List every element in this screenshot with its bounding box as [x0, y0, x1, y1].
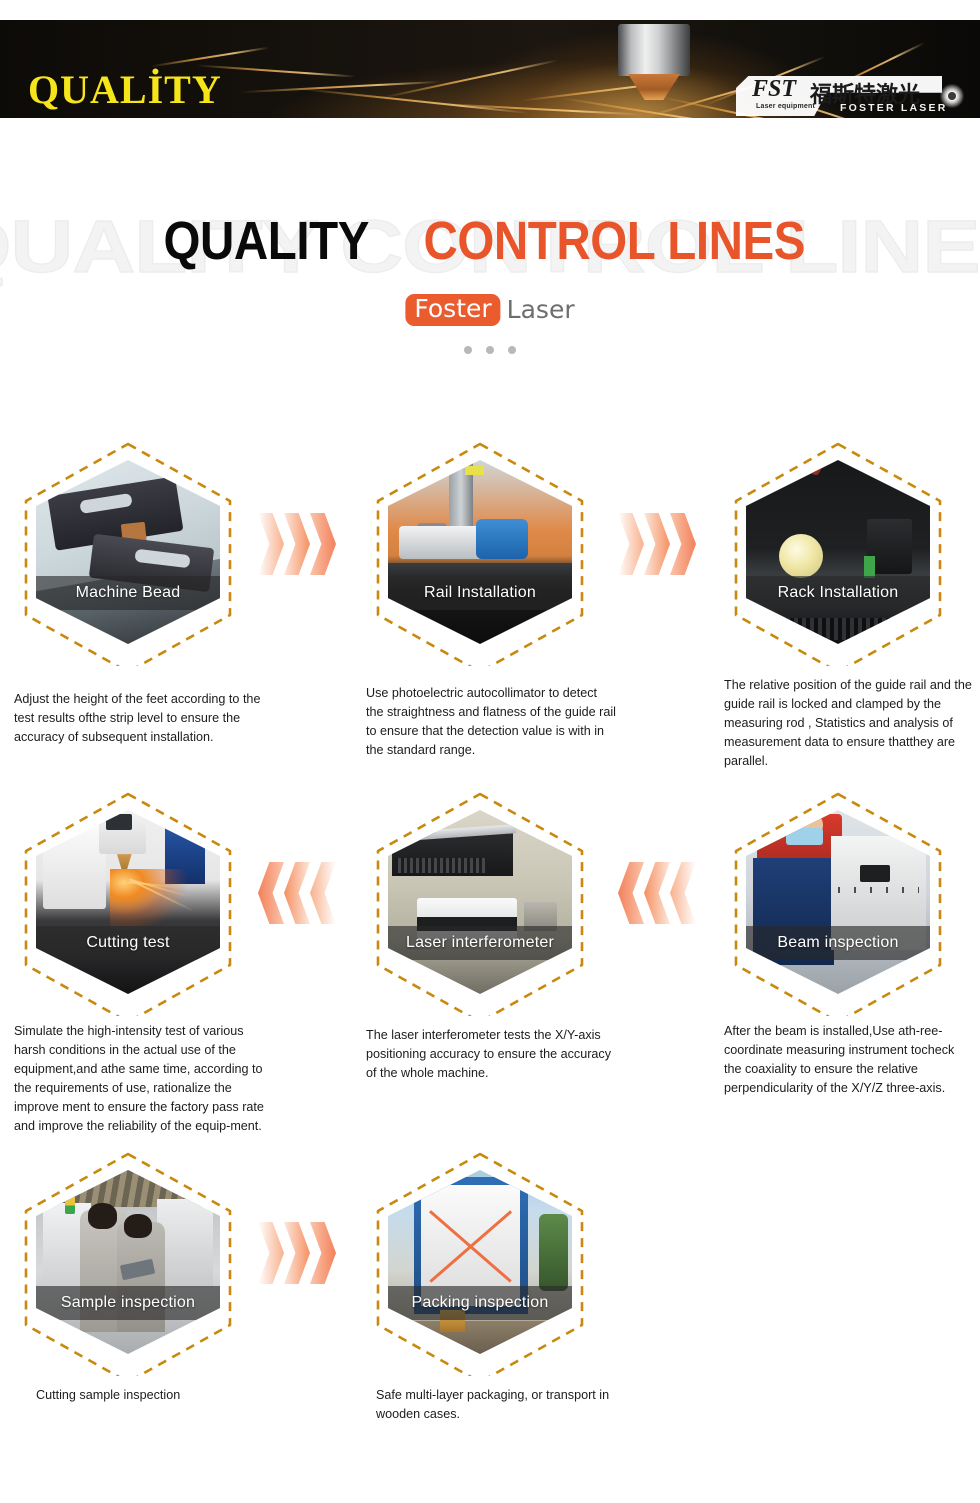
chevron-right-icon — [670, 513, 696, 575]
hex-rail-installation: Rail Installation — [366, 438, 594, 666]
arrow-interferometer-to-cutting — [258, 862, 336, 924]
hex-label: Machine Bead — [36, 576, 220, 610]
chevron-right-icon — [644, 513, 670, 575]
logo-tagline: Laser equipment — [756, 103, 815, 110]
page-title: QUALITYCONTROL LINES — [149, 214, 830, 268]
hex-label: Beam inspection — [746, 926, 930, 960]
laser-burst-icon — [938, 82, 966, 110]
decorative-dots — [464, 346, 516, 354]
logo-english-name: FOSTER LASER — [840, 102, 948, 114]
step-card-rail-installation: Rail Installation Use photoelectric auto… — [366, 438, 594, 666]
chevron-right-icon — [258, 513, 284, 575]
dot-1 — [464, 346, 472, 354]
hex-label: Rack Installation — [746, 576, 930, 610]
step-caption-laser-interferometer: The laser interferometer tests the X/Y-a… — [366, 1026, 616, 1083]
chevron-left-icon — [258, 862, 284, 924]
hex-cutting-test: Cutting test — [14, 788, 242, 1016]
arrow-bead-to-rail — [258, 513, 336, 575]
step-caption-beam-inspection: After the beam is installed,Use ath-ree-… — [724, 1022, 974, 1098]
hex-label: Cutting test — [36, 926, 220, 960]
chevron-right-icon — [284, 513, 310, 575]
dot-3 — [508, 346, 516, 354]
hex-laser-interferometer: Laser interferometer — [366, 788, 594, 1016]
chevron-left-icon — [644, 862, 670, 924]
logo-abbr: FST — [752, 76, 796, 103]
hex-rack-installation: Rack Installation — [724, 438, 952, 666]
chevron-right-icon — [258, 1222, 284, 1284]
chevron-left-icon — [618, 862, 644, 924]
hex-beam-inspection: Beam inspection — [724, 788, 952, 1016]
quality-control-lines-page: QUALİTY FST 福斯特激光 Laser equipment FOSTER… — [0, 0, 980, 1503]
arrow-sample-to-packing — [258, 1222, 336, 1284]
heading-block: QUALITY CONTROL LINES QUALITYCONTROL LIN… — [0, 190, 980, 380]
step-caption-machine-bead: Adjust the height of the feet according … — [14, 690, 264, 747]
brand-lockup: Foster Laser — [405, 294, 574, 326]
hex-packing-inspection: Packing inspection — [366, 1148, 594, 1376]
foster-laser-logo: FST 福斯特激光 Laser equipment FOSTER LASER — [736, 70, 968, 118]
dot-2 — [486, 346, 494, 354]
hex-machine-bead: Machine Bead — [14, 438, 242, 666]
brand-chip-foster: Foster — [405, 294, 500, 326]
step-caption-rail-installation: Use photoelectric autocollimator to dete… — [366, 684, 616, 760]
chevron-left-icon — [310, 862, 336, 924]
laser-nozzle-icon — [618, 24, 690, 76]
chevron-left-icon — [284, 862, 310, 924]
step-caption-packing-inspection: Safe multi-layer packaging, or transport… — [376, 1386, 626, 1424]
hex-sample-inspection: Sample inspection — [14, 1148, 242, 1376]
step-caption-rack-installation: The relative position of the guide rail … — [724, 676, 974, 771]
page-title-black: QUALITY — [164, 214, 369, 268]
arrow-beam-to-interferometer — [618, 862, 696, 924]
hex-label: Sample inspection — [36, 1286, 220, 1320]
step-card-sample-inspection: Sample inspection Cutting sample inspect… — [14, 1148, 242, 1376]
page-title-orange: CONTROL LINES — [423, 214, 804, 268]
hex-label: Packing inspection — [388, 1286, 572, 1320]
chevron-right-icon — [284, 1222, 310, 1284]
chevron-left-icon — [670, 862, 696, 924]
hex-label: Rail Installation — [388, 576, 572, 610]
step-card-rack-installation: Rack Installation The relative position … — [724, 438, 952, 666]
step-caption-cutting-test: Simulate the high-intensity test of vari… — [14, 1022, 264, 1136]
step-card-beam-inspection: Beam inspection After the beam is instal… — [724, 788, 952, 1016]
step-card-packing-inspection: Packing inspection Safe multi-layer pack… — [366, 1148, 594, 1376]
arrow-rail-to-rack — [618, 513, 696, 575]
banner-title: QUALİTY — [28, 70, 222, 110]
step-card-cutting-test: Cutting test Simulate the high-intensity… — [14, 788, 242, 1016]
chevron-right-icon — [310, 513, 336, 575]
step-card-laser-interferometer: Laser interferometer The laser interfero… — [366, 788, 594, 1016]
step-card-machine-bead: Machine Bead Adjust the height of the fe… — [14, 438, 242, 666]
chevron-right-icon — [310, 1222, 336, 1284]
brand-word-laser: Laser — [507, 297, 575, 323]
step-caption-sample-inspection: Cutting sample inspection — [36, 1386, 286, 1405]
chevron-right-icon — [618, 513, 644, 575]
top-banner: QUALİTY FST 福斯特激光 Laser equipment FOSTER… — [0, 20, 980, 118]
hex-label: Laser interferometer — [388, 926, 572, 960]
